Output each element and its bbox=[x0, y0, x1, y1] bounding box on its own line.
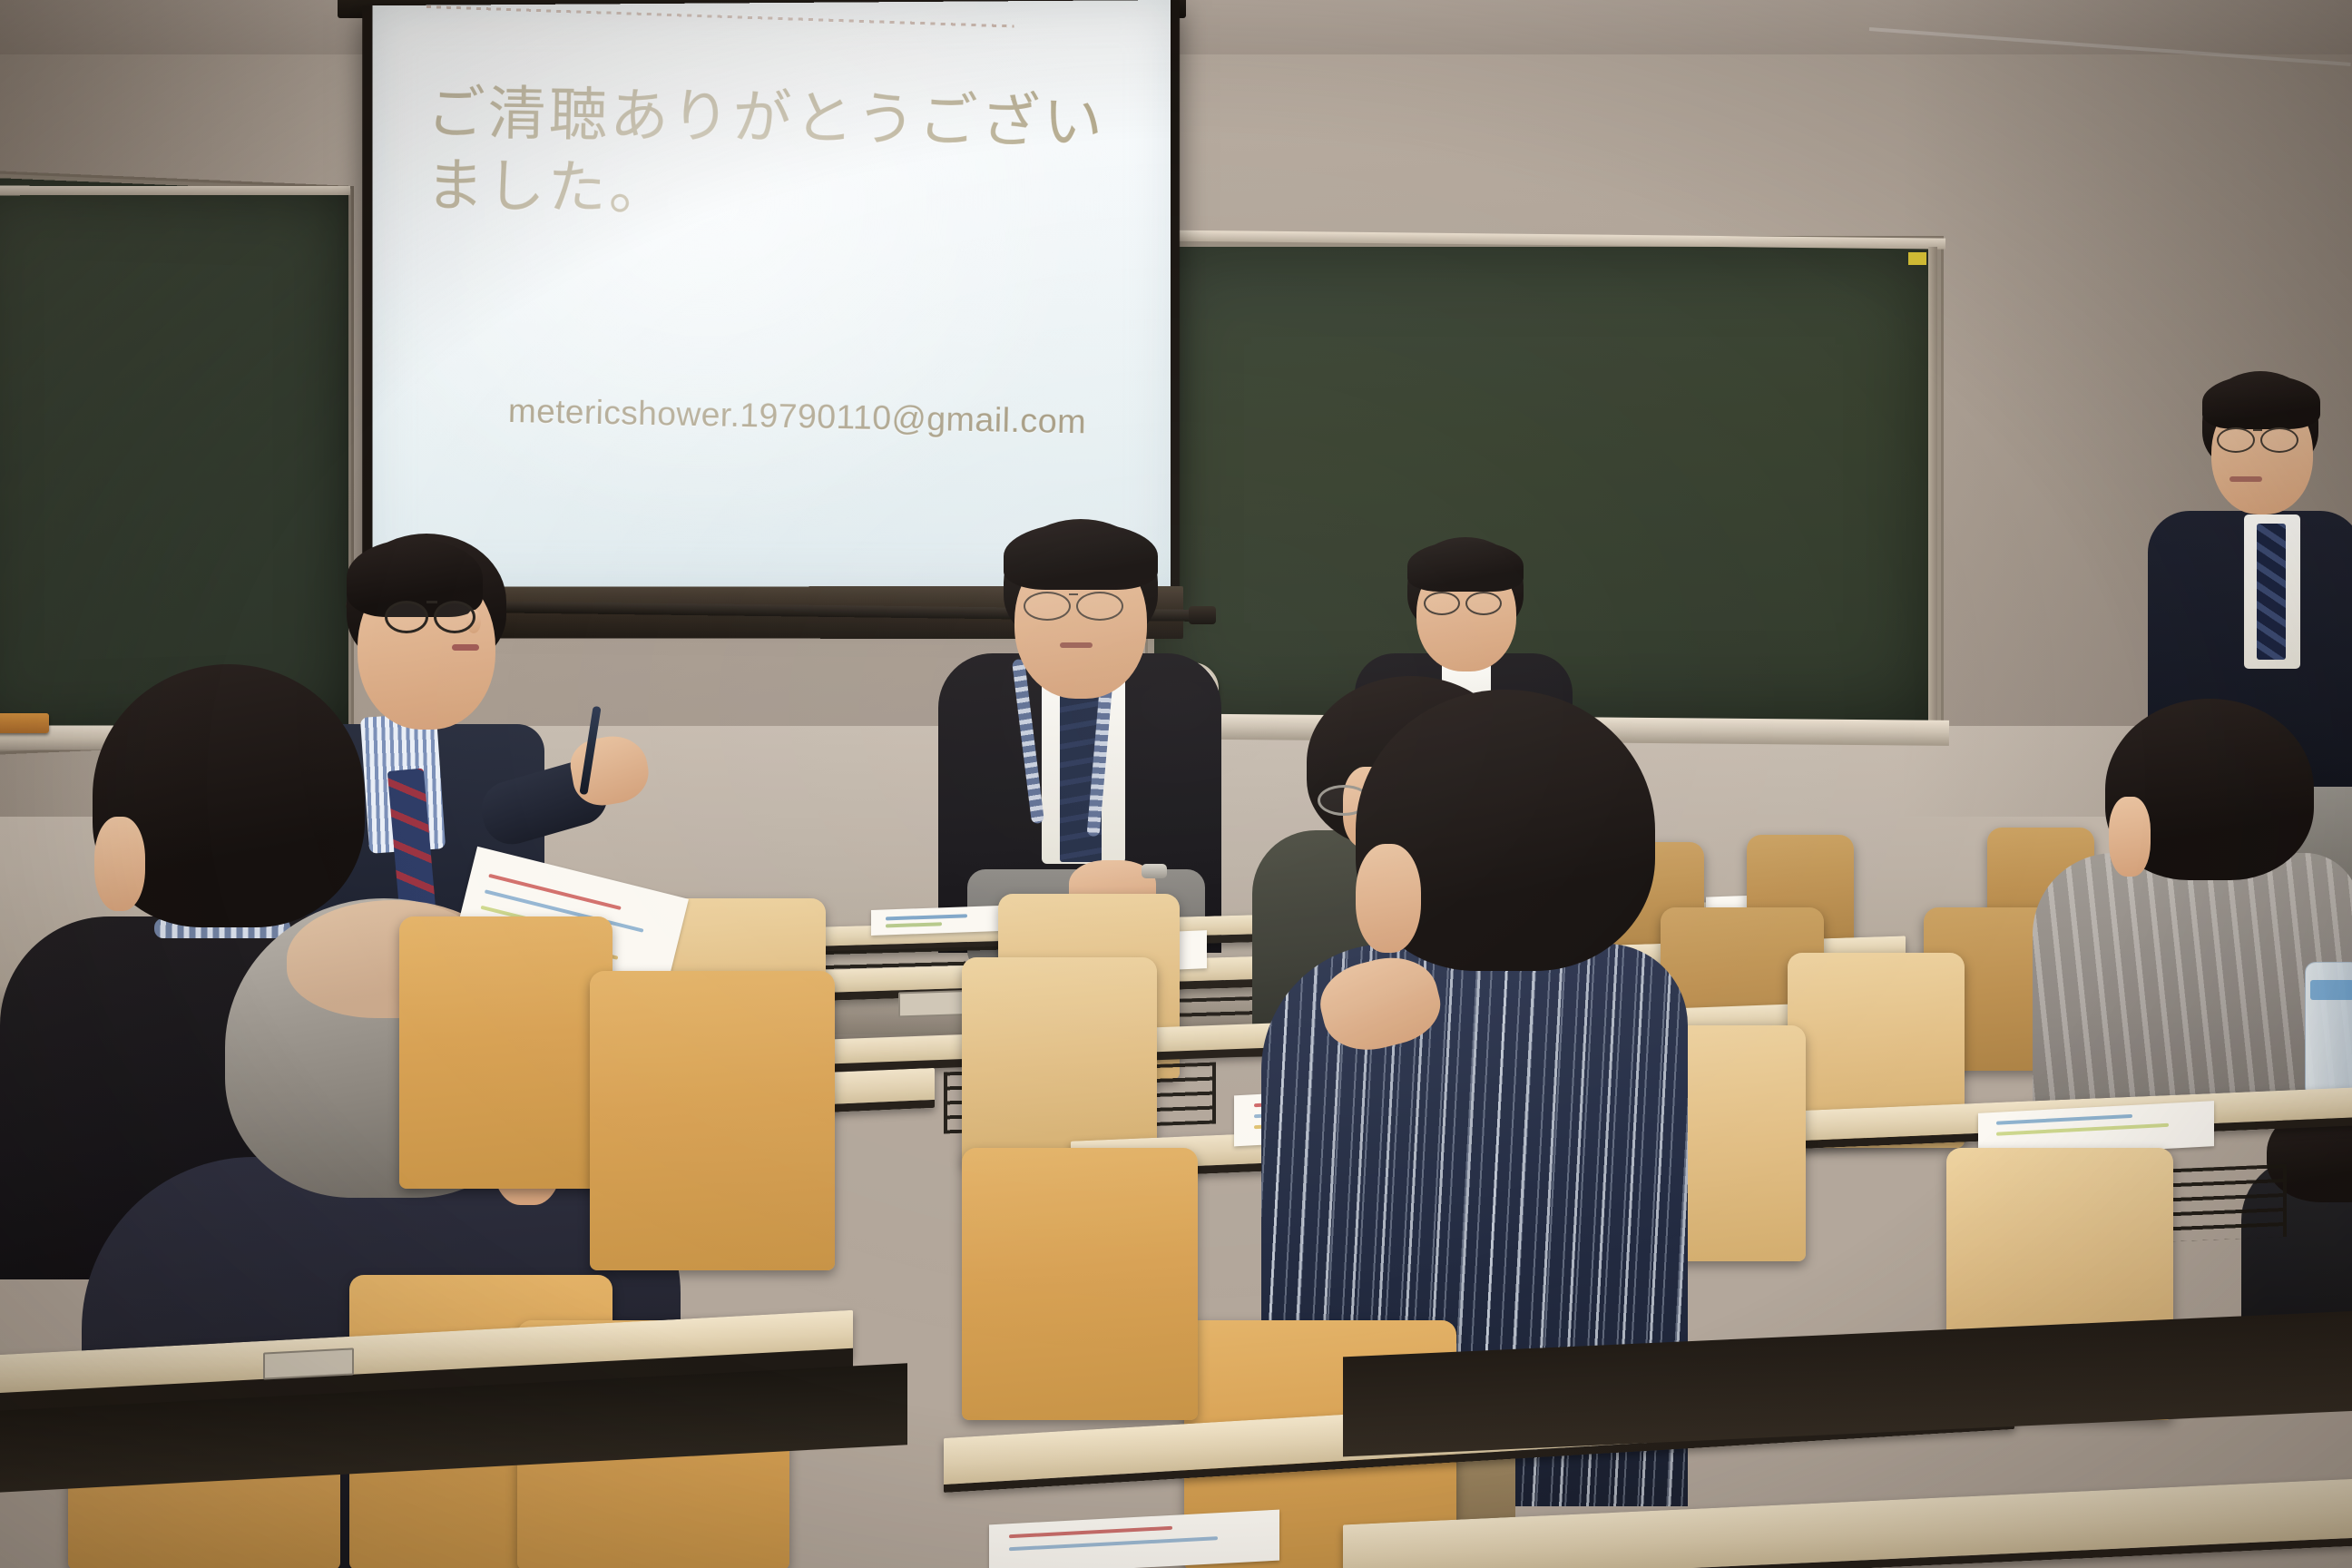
presenter-mouth bbox=[452, 644, 479, 651]
person-panelist-center bbox=[935, 526, 1234, 953]
attendee-5-ear bbox=[2109, 797, 2151, 877]
wristwatch-icon bbox=[1142, 864, 1167, 878]
chair bbox=[399, 916, 612, 1189]
glasses-icon bbox=[2260, 427, 2298, 453]
water-bottle-label bbox=[2310, 980, 2352, 1000]
glasses-icon bbox=[434, 601, 475, 633]
panelist-center-mouth bbox=[1060, 642, 1093, 648]
desk-power-outlet bbox=[263, 1347, 354, 1379]
glasses-bridge-icon bbox=[426, 601, 437, 603]
chalkboard-left bbox=[0, 177, 348, 744]
chair bbox=[590, 971, 835, 1270]
panelist-right-hair-front bbox=[1407, 541, 1524, 592]
lecture-hall-photo: ご清聴ありがとうございました。 metericshower.19790110@g… bbox=[0, 0, 2352, 1568]
handout-paper bbox=[989, 1510, 1279, 1568]
chalkboard-right-edge bbox=[1928, 247, 1937, 722]
staff-hair-front bbox=[2202, 375, 2320, 429]
glasses-icon bbox=[1076, 592, 1123, 621]
staff-mouth bbox=[2229, 476, 2262, 482]
chalkboard-left-top-rail bbox=[0, 186, 350, 196]
person-attendee-5 bbox=[2033, 708, 2352, 1116]
attendee-1-ear bbox=[94, 817, 145, 911]
slide-title: ご清聴ありがとうございました。 bbox=[426, 77, 1128, 234]
glasses-bridge-icon bbox=[1069, 593, 1078, 595]
panelist-center-hair-front bbox=[1004, 523, 1158, 590]
glasses-icon bbox=[385, 601, 428, 633]
glasses-icon bbox=[1424, 592, 1460, 615]
glasses-icon bbox=[1465, 592, 1502, 615]
attendee-4-ear bbox=[1356, 844, 1421, 953]
chair bbox=[962, 1148, 1198, 1420]
magnet-clip-icon bbox=[1908, 252, 1926, 265]
glasses-icon bbox=[1024, 592, 1071, 621]
staff-tie bbox=[2257, 524, 2286, 660]
glasses-icon bbox=[2217, 427, 2255, 453]
chair bbox=[962, 957, 1157, 1166]
glasses-bridge-icon bbox=[2253, 429, 2262, 431]
